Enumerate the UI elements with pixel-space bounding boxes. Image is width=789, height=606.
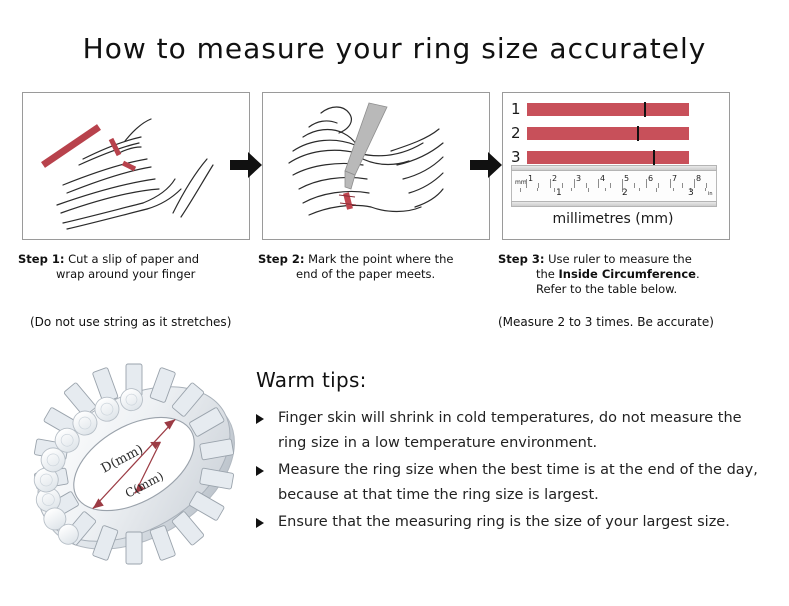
ruler-inch-tick-1: 1 bbox=[556, 189, 562, 198]
paper-strip-1 bbox=[527, 103, 689, 116]
ruler-cm-tick-5: 5 bbox=[624, 175, 629, 183]
hand-with-paper-strip-illustration bbox=[23, 93, 249, 239]
warm-tip-text: Measure the ring size when the best time… bbox=[278, 462, 758, 503]
step-1-caption-line1: Cut a slip of paper and bbox=[64, 252, 199, 266]
ring-diagram: D(mm) C(mm) bbox=[16, 358, 252, 573]
steps-panel-row: 1 2 3 bbox=[0, 92, 789, 242]
step-1-label: Step 1: bbox=[18, 252, 64, 266]
ruler-unit-caption: millimetres (mm) bbox=[503, 211, 723, 227]
ruler-cm-tick-2: 2 bbox=[552, 175, 557, 183]
ruler-inch-tick-3: 3 bbox=[688, 189, 694, 198]
strip-label: 3 bbox=[511, 150, 527, 165]
page-title: How to measure your ring size accurately bbox=[0, 32, 789, 65]
strip-row: 3 bbox=[511, 147, 723, 167]
ruler-inch-tick-2: 2 bbox=[622, 189, 628, 198]
step-3-caption: Step 3: Use ruler to measure the the Ins… bbox=[498, 252, 748, 297]
ruler-cm-tick-7: 7 bbox=[672, 175, 677, 183]
ruler-cm-tick-3: 3 bbox=[576, 175, 581, 183]
strip-row: 1 bbox=[511, 99, 723, 119]
warm-tip-text: Finger skin will shrink in cold temperat… bbox=[278, 410, 742, 451]
strip-row: 2 bbox=[511, 123, 723, 143]
warm-tip-item: Finger skin will shrink in cold temperat… bbox=[256, 406, 766, 456]
ruler-cm-tick-4: 4 bbox=[600, 175, 605, 183]
step-3-caption-line2: the bbox=[536, 267, 559, 281]
ruler-inch-unit: in bbox=[708, 192, 713, 197]
bullet-triangle-icon bbox=[256, 518, 264, 528]
step-3-illustration-panel: 1 2 3 bbox=[502, 92, 730, 240]
step-3-caption-line2-tail: . bbox=[696, 267, 700, 281]
warm-tip-item: Measure the ring size when the best time… bbox=[256, 458, 766, 508]
ruler-cm-tick-1: 1 bbox=[528, 175, 533, 183]
paper-strip-3 bbox=[527, 151, 689, 164]
step-2-caption: Step 2: Mark the point where the end of … bbox=[258, 252, 498, 282]
warm-tips-section: Warm tips: Finger skin will shrink in co… bbox=[256, 368, 766, 537]
step-3-caption-line3: Refer to the table below. bbox=[498, 282, 748, 297]
ruler-bottom-edge bbox=[511, 201, 717, 207]
step-1-note: (Do not use string as it stretches) bbox=[30, 315, 260, 329]
ruler-cm-scale: mm 1 bbox=[511, 171, 717, 188]
step-3-label: Step 3: bbox=[498, 252, 544, 266]
infographic-page: How to measure your ring size accurately bbox=[0, 0, 789, 606]
step-1-caption: Step 1: Cut a slip of paper and wrap aro… bbox=[18, 252, 258, 282]
ruler-illustration: mm 1 bbox=[511, 165, 717, 207]
step-1-caption-line2: wrap around your finger bbox=[18, 267, 258, 282]
strip-mark-3 bbox=[653, 150, 655, 165]
hand-marking-paper-with-pen-illustration bbox=[263, 93, 489, 239]
step-2-caption-line2: end of the paper meets. bbox=[258, 267, 498, 282]
strip-label: 1 bbox=[511, 102, 527, 117]
arrow-step1-to-step2-icon bbox=[228, 148, 264, 182]
bullet-triangle-icon bbox=[256, 414, 264, 424]
step-1-illustration-panel bbox=[22, 92, 250, 240]
inside-circumference-emphasis: Inside Circumference bbox=[559, 267, 696, 281]
step-3-note: (Measure 2 to 3 times. Be accurate) bbox=[498, 315, 758, 329]
bullet-triangle-icon bbox=[256, 466, 264, 476]
ruler-cm-tick-8: 8 bbox=[696, 175, 701, 183]
ruler-cm-tick-6: 6 bbox=[648, 175, 653, 183]
ruler-inch-scale: 1 2 3 in bbox=[511, 188, 717, 201]
strip-mark-2 bbox=[637, 126, 639, 141]
paper-strip-samples: 1 2 3 bbox=[511, 99, 723, 171]
strip-label: 2 bbox=[511, 126, 527, 141]
warm-tips-heading: Warm tips: bbox=[256, 368, 766, 392]
arrow-step2-to-step3-icon bbox=[468, 148, 504, 182]
strip-mark-1 bbox=[644, 102, 646, 117]
paper-strip-2 bbox=[527, 127, 689, 140]
warm-tip-text: Ensure that the measuring ring is the si… bbox=[278, 514, 730, 530]
step-2-caption-line1: Mark the point where the bbox=[304, 252, 453, 266]
eternity-ring-illustration: D(mm) C(mm) bbox=[16, 358, 252, 573]
step-2-label: Step 2: bbox=[258, 252, 304, 266]
step-3-caption-line1: Use ruler to measure the bbox=[544, 252, 691, 266]
step-2-illustration-panel bbox=[262, 92, 490, 240]
ruler-cm-unit: mm bbox=[515, 180, 527, 186]
warm-tip-item: Ensure that the measuring ring is the si… bbox=[256, 510, 766, 535]
